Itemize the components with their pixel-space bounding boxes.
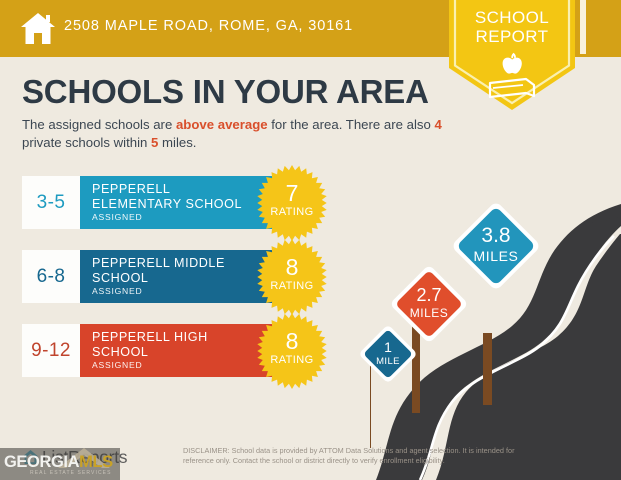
disclaimer-text: DISCLAIMER: School data is provided by A… (183, 446, 543, 465)
subtitle-part3: private schools within (22, 135, 151, 150)
badge-title: SCHOOL REPORT (449, 8, 575, 46)
sign-post (483, 333, 492, 405)
rating-label: RATING (254, 206, 330, 218)
rating-value: 8 (254, 256, 330, 279)
subtitle-highlight-above-average: above average (176, 117, 268, 132)
grade-range-label: 6-8 (37, 266, 66, 288)
grade-range-box: 3-5 (22, 176, 80, 229)
school-name-line2: ELEMENTARY SCHOOL (92, 197, 242, 211)
school-name-line1: PEPPERELL HIGH (92, 330, 208, 344)
badge-title-line1: SCHOOL (475, 8, 549, 27)
school-status: ASSIGNED (92, 286, 142, 296)
school-status: ASSIGNED (92, 212, 142, 222)
sign-unit: MILES (386, 306, 472, 320)
georgia-mls-watermark: GEORGIAMLS REAL ESTATE SERVICES (0, 448, 120, 480)
georgia-text: GEORGIA (4, 453, 79, 471)
grade-range-box: 9-12 (22, 324, 80, 377)
sign-unit: MILE (355, 356, 421, 367)
mls-text: MLS (79, 453, 113, 471)
school-row[interactable]: 6-8 PEPPERELL MIDDLE SCHOOL ASSIGNED 8 R… (22, 250, 274, 303)
school-report-badge: SCHOOL REPORT (449, 0, 621, 116)
rating-badge: 8 RATING (254, 239, 330, 315)
grade-range-box: 6-8 (22, 250, 80, 303)
rating-badge: 7 RATING (254, 165, 330, 241)
page-subtitle: The assigned schools are above average f… (22, 116, 442, 151)
sign-value: 2.7 (386, 286, 472, 304)
infographic-page: 2508 MAPLE ROAD, ROME, GA, 30161 SCHOOL … (0, 0, 621, 480)
page-title: SCHOOLS IN YOUR AREA (22, 73, 429, 111)
school-name-line2: SCHOOL (92, 271, 149, 285)
sign-value: 1 (355, 340, 421, 354)
school-name: PEPPERELL ELEMENTARY SCHOOL (92, 182, 258, 211)
school-name: PEPPERELL MIDDLE SCHOOL (92, 256, 258, 285)
rating-label: RATING (254, 354, 330, 366)
badge-title-line2: REPORT (476, 27, 549, 46)
subtitle-part2: for the area. There are also (268, 117, 435, 132)
school-name-line1: PEPPERELL MIDDLE (92, 256, 225, 270)
school-name-line2: SCHOOL (92, 345, 149, 359)
rating-value: 8 (254, 330, 330, 353)
subtitle-highlight-count: 4 (435, 117, 442, 132)
subtitle-part4: miles. (158, 135, 196, 150)
school-bar: PEPPERELL ELEMENTARY SCHOOL ASSIGNED (80, 176, 274, 229)
header-address: 2508 MAPLE ROAD, ROME, GA, 30161 (64, 18, 353, 34)
grade-range-label: 3-5 (37, 192, 66, 214)
school-row[interactable]: 3-5 PEPPERELL ELEMENTARY SCHOOL ASSIGNED… (22, 176, 274, 229)
school-bar: PEPPERELL HIGH SCHOOL ASSIGNED (80, 324, 274, 377)
rating-value: 7 (254, 182, 330, 205)
road-illustration: 3.8 MILES 2.7 MILES 1 MILE (370, 196, 621, 480)
school-name: PEPPERELL HIGH SCHOOL (92, 330, 258, 359)
rating-badge: 8 RATING (254, 313, 330, 389)
school-row[interactable]: 9-12 PEPPERELL HIGH SCHOOL ASSIGNED 8 RA… (22, 324, 274, 377)
rating-label: RATING (254, 280, 330, 292)
sign-value: 3.8 (446, 225, 546, 246)
grade-range-label: 9-12 (31, 340, 71, 362)
subtitle-part1: The assigned schools are (22, 117, 176, 132)
road-sign-1-mile: 1 MILE (355, 321, 421, 387)
school-name-line1: PEPPERELL (92, 182, 170, 196)
georgia-mls-tagline: REAL ESTATE SERVICES (30, 470, 112, 476)
home-icon (20, 11, 56, 45)
school-bar: PEPPERELL MIDDLE SCHOOL ASSIGNED (80, 250, 274, 303)
school-status: ASSIGNED (92, 360, 142, 370)
